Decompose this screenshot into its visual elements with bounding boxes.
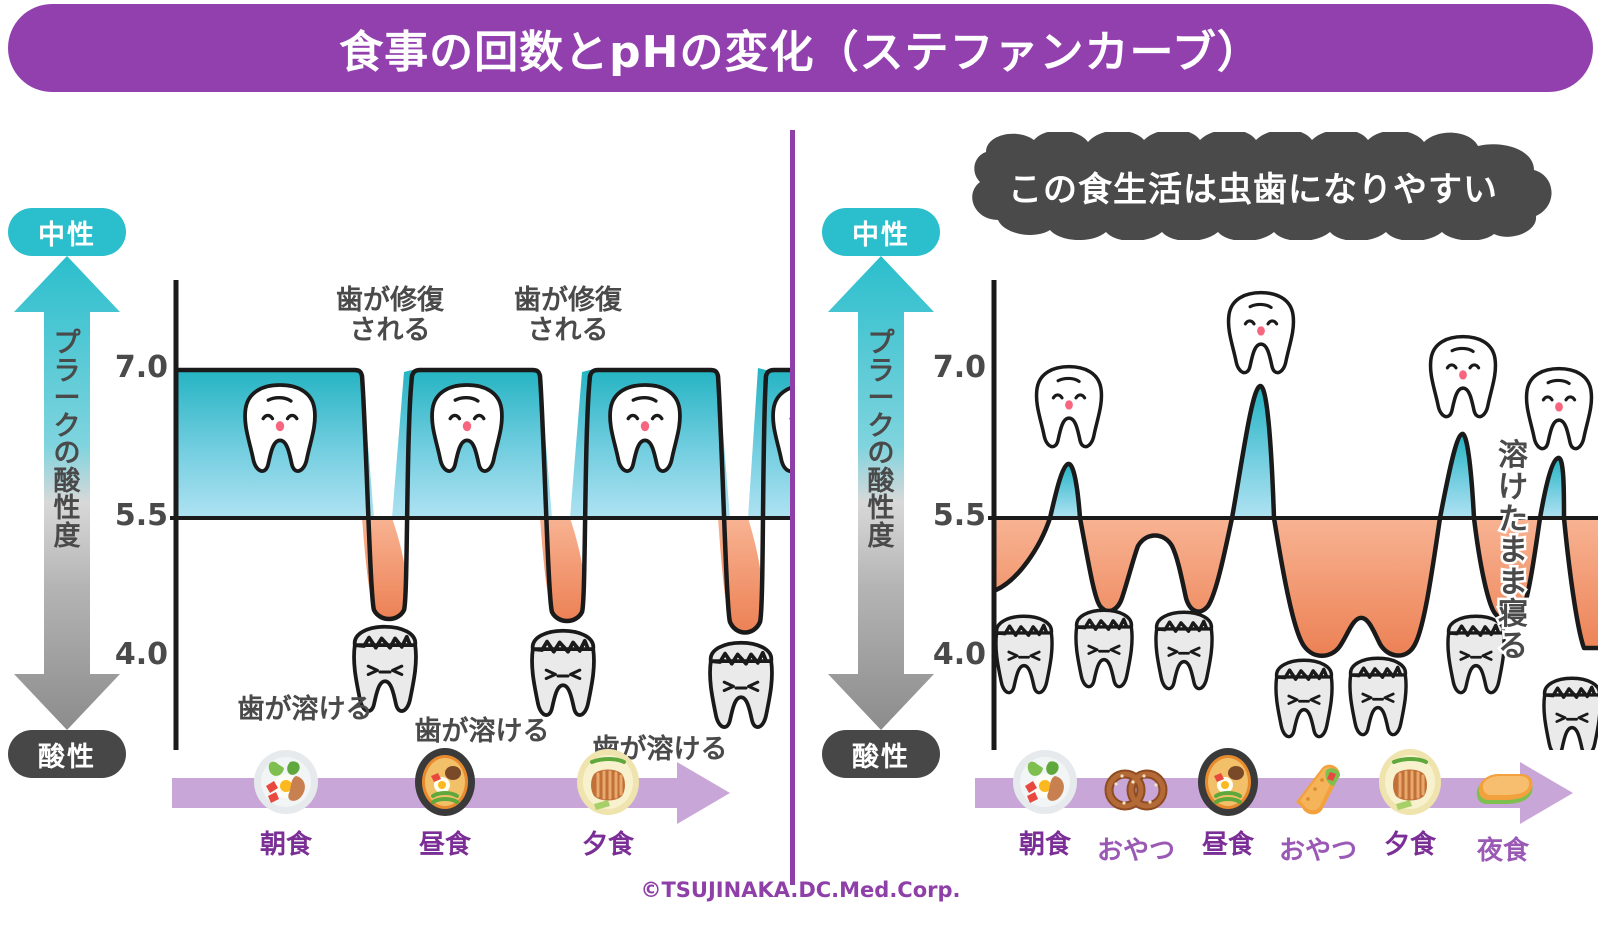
page-title-bar: 食事の回数とpHの変化（ステファンカーブ） [8, 4, 1593, 92]
damaged-tooth-icon [532, 631, 594, 715]
note-repair-2: 歯が修復 される [478, 286, 658, 346]
happy-tooth-icon [1229, 293, 1294, 373]
timeline-item-snack1-right[interactable]: おやつ [1088, 752, 1184, 867]
timeline-item-breakfast-left[interactable]: 朝食 [241, 746, 331, 861]
note-repair-1: 歯が修復 される [300, 286, 480, 346]
timeline-item-lunch-right[interactable]: 昼食 [1183, 746, 1273, 861]
pretzel-icon [1100, 752, 1172, 824]
y-axis-labels-right: 7.0 5.5 4.0 [928, 280, 986, 680]
dinner-plate-icon [1374, 746, 1446, 818]
neutral-badge-left: 中性 [8, 208, 126, 256]
happy-tooth-icon [1527, 369, 1592, 449]
y-tick-4: 4.0 [115, 637, 168, 672]
breakfast-plate-icon [1009, 746, 1081, 818]
acid-badge-left: 酸性 [8, 730, 126, 778]
acid-badge-right: 酸性 [822, 730, 940, 778]
ramen-bowl-icon [409, 746, 481, 818]
page-title: 食事の回数とpHの変化（ステファンカーブ） [339, 16, 1262, 80]
neutral-badge-right: 中性 [822, 208, 940, 256]
damaged-tooth-icon [996, 616, 1052, 692]
gauge-vertical-label-right: プ ラ ー ク の 酸 性 度 [822, 330, 940, 550]
dinner-plate-icon [572, 746, 644, 818]
timeline-item-snack2-right[interactable]: おやつ [1270, 752, 1366, 867]
timeline-item-dinner-right[interactable]: 夕食 [1365, 746, 1455, 861]
panel-divider [790, 130, 795, 885]
note-dissolve-1: 歯が溶ける [205, 695, 405, 725]
timeline-label: 夜食 [1455, 830, 1551, 867]
y-axis-labels-left: 7.0 5.5 4.0 [110, 280, 168, 680]
damaged-tooth-icon [710, 643, 772, 727]
timeline-label: 昼食 [1183, 824, 1273, 861]
burrito-icon [1282, 752, 1354, 824]
ph-gauge-right: 中性 プ ラ ー ク の 酸 性 度 酸性 [822, 208, 942, 778]
side-note-sleep-dissolved: 溶 け た ま ま 寝 る [1490, 440, 1536, 663]
callout-bubble: この食生活は虫歯になりやすい [938, 132, 1568, 240]
timeline-label: おやつ [1088, 830, 1184, 867]
damaged-tooth-icon [1276, 660, 1332, 736]
gauge-arrow-left: プ ラ ー ク の 酸 性 度 [8, 256, 126, 730]
callout-text: この食生活は虫歯になりやすい [938, 132, 1568, 240]
damaged-tooth-icon [1350, 658, 1406, 734]
gauge-arrow-right: プ ラ ー ク の 酸 性 度 [822, 256, 940, 730]
damaged-tooth-icon [1544, 678, 1598, 750]
y-tick-7: 7.0 [933, 350, 986, 385]
y-tick-4: 4.0 [933, 637, 986, 672]
timeline-label: おやつ [1270, 830, 1366, 867]
happy-tooth-icon [1431, 337, 1496, 417]
timeline-label: 昼食 [400, 824, 490, 861]
stephan-curve-left [170, 280, 790, 750]
note-dissolve-2: 歯が溶ける [382, 717, 582, 747]
gauge-vertical-label-left: プ ラ ー ク の 酸 性 度 [8, 330, 126, 550]
happy-tooth-icon [1037, 367, 1102, 447]
damaged-tooth-icon [1156, 612, 1212, 688]
copyright-text: ©TSUJINAKA.DC.Med.Corp. [0, 878, 1601, 902]
timeline-label: 朝食 [241, 824, 331, 861]
y-tick-7: 7.0 [115, 350, 168, 385]
timeline-item-breakfast-right[interactable]: 朝食 [1000, 746, 1090, 861]
breakfast-plate-icon [250, 746, 322, 818]
sandwich-icon [1467, 752, 1539, 824]
timeline-label: 朝食 [1000, 824, 1090, 861]
y-tick-5-5: 5.5 [115, 498, 168, 533]
timeline-label: 夕食 [563, 824, 653, 861]
ramen-bowl-icon [1192, 746, 1264, 818]
timeline-item-latenight-right[interactable]: 夜食 [1455, 752, 1551, 867]
timeline-label: 夕食 [1365, 824, 1455, 861]
y-tick-5-5: 5.5 [933, 498, 986, 533]
timeline-item-lunch-left[interactable]: 昼食 [400, 746, 490, 861]
damaged-tooth-icon [1076, 610, 1132, 686]
timeline-item-dinner-left[interactable]: 夕食 [563, 746, 653, 861]
